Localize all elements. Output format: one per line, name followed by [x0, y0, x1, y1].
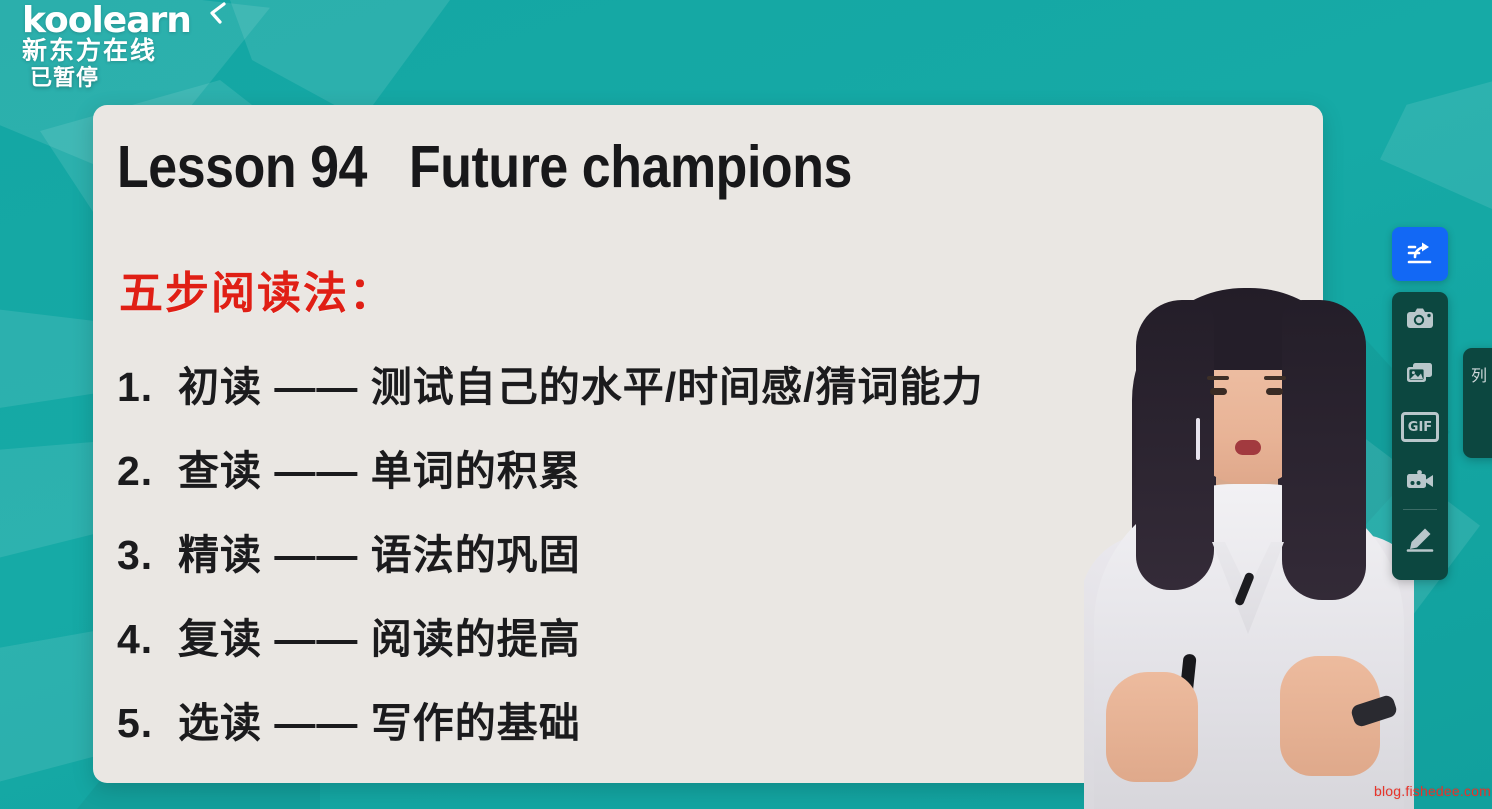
presenter-video-overlay — [1084, 284, 1414, 809]
share-button[interactable] — [1392, 227, 1448, 281]
presenter-mouth — [1235, 440, 1261, 455]
video-player-stage: koolearn 新东方在线 已暂停 Lesson 94 Future cham… — [0, 0, 1492, 809]
screenshot-button[interactable] — [1392, 292, 1448, 346]
koolearn-logo: koolearn 新东方在线 — [22, 2, 222, 64]
pen-icon — [1405, 526, 1435, 552]
side-flyout-label: 列 — [1471, 368, 1487, 385]
presenter-hair-left — [1136, 300, 1214, 590]
presenter-eyebrow — [1264, 376, 1286, 380]
share-export-icon — [1405, 241, 1435, 267]
slide-title: Lesson 94 Future champions — [117, 133, 852, 201]
presenter-hand-left — [1106, 672, 1198, 782]
presenter-eye — [1266, 388, 1283, 395]
video-camera-icon — [1405, 468, 1435, 494]
presenter-earring — [1196, 418, 1200, 460]
presenter-hair-right — [1282, 300, 1366, 600]
annotate-button[interactable] — [1392, 512, 1448, 566]
gallery-button[interactable] — [1392, 346, 1448, 400]
chevron-left-icon — [206, 2, 226, 24]
presenter-eye — [1210, 388, 1227, 395]
playback-status-label: 已暂停 — [30, 60, 99, 92]
logo-brand-text: koolearn — [22, 2, 222, 40]
record-video-button[interactable] — [1392, 454, 1448, 508]
gif-button[interactable]: GIF — [1392, 400, 1448, 454]
camera-icon — [1405, 306, 1435, 332]
slide-subtitle: 五步阅读法： — [119, 257, 395, 321]
site-watermark: blog.fishedee.com — [1374, 783, 1491, 799]
gif-icon: GIF — [1401, 412, 1439, 442]
images-icon — [1405, 360, 1435, 386]
presenter-eyebrow — [1207, 376, 1229, 380]
capture-tool-panel: GIF — [1392, 292, 1448, 580]
side-flyout-panel[interactable]: 列 — [1463, 348, 1492, 458]
toolbar-divider — [1403, 509, 1437, 510]
